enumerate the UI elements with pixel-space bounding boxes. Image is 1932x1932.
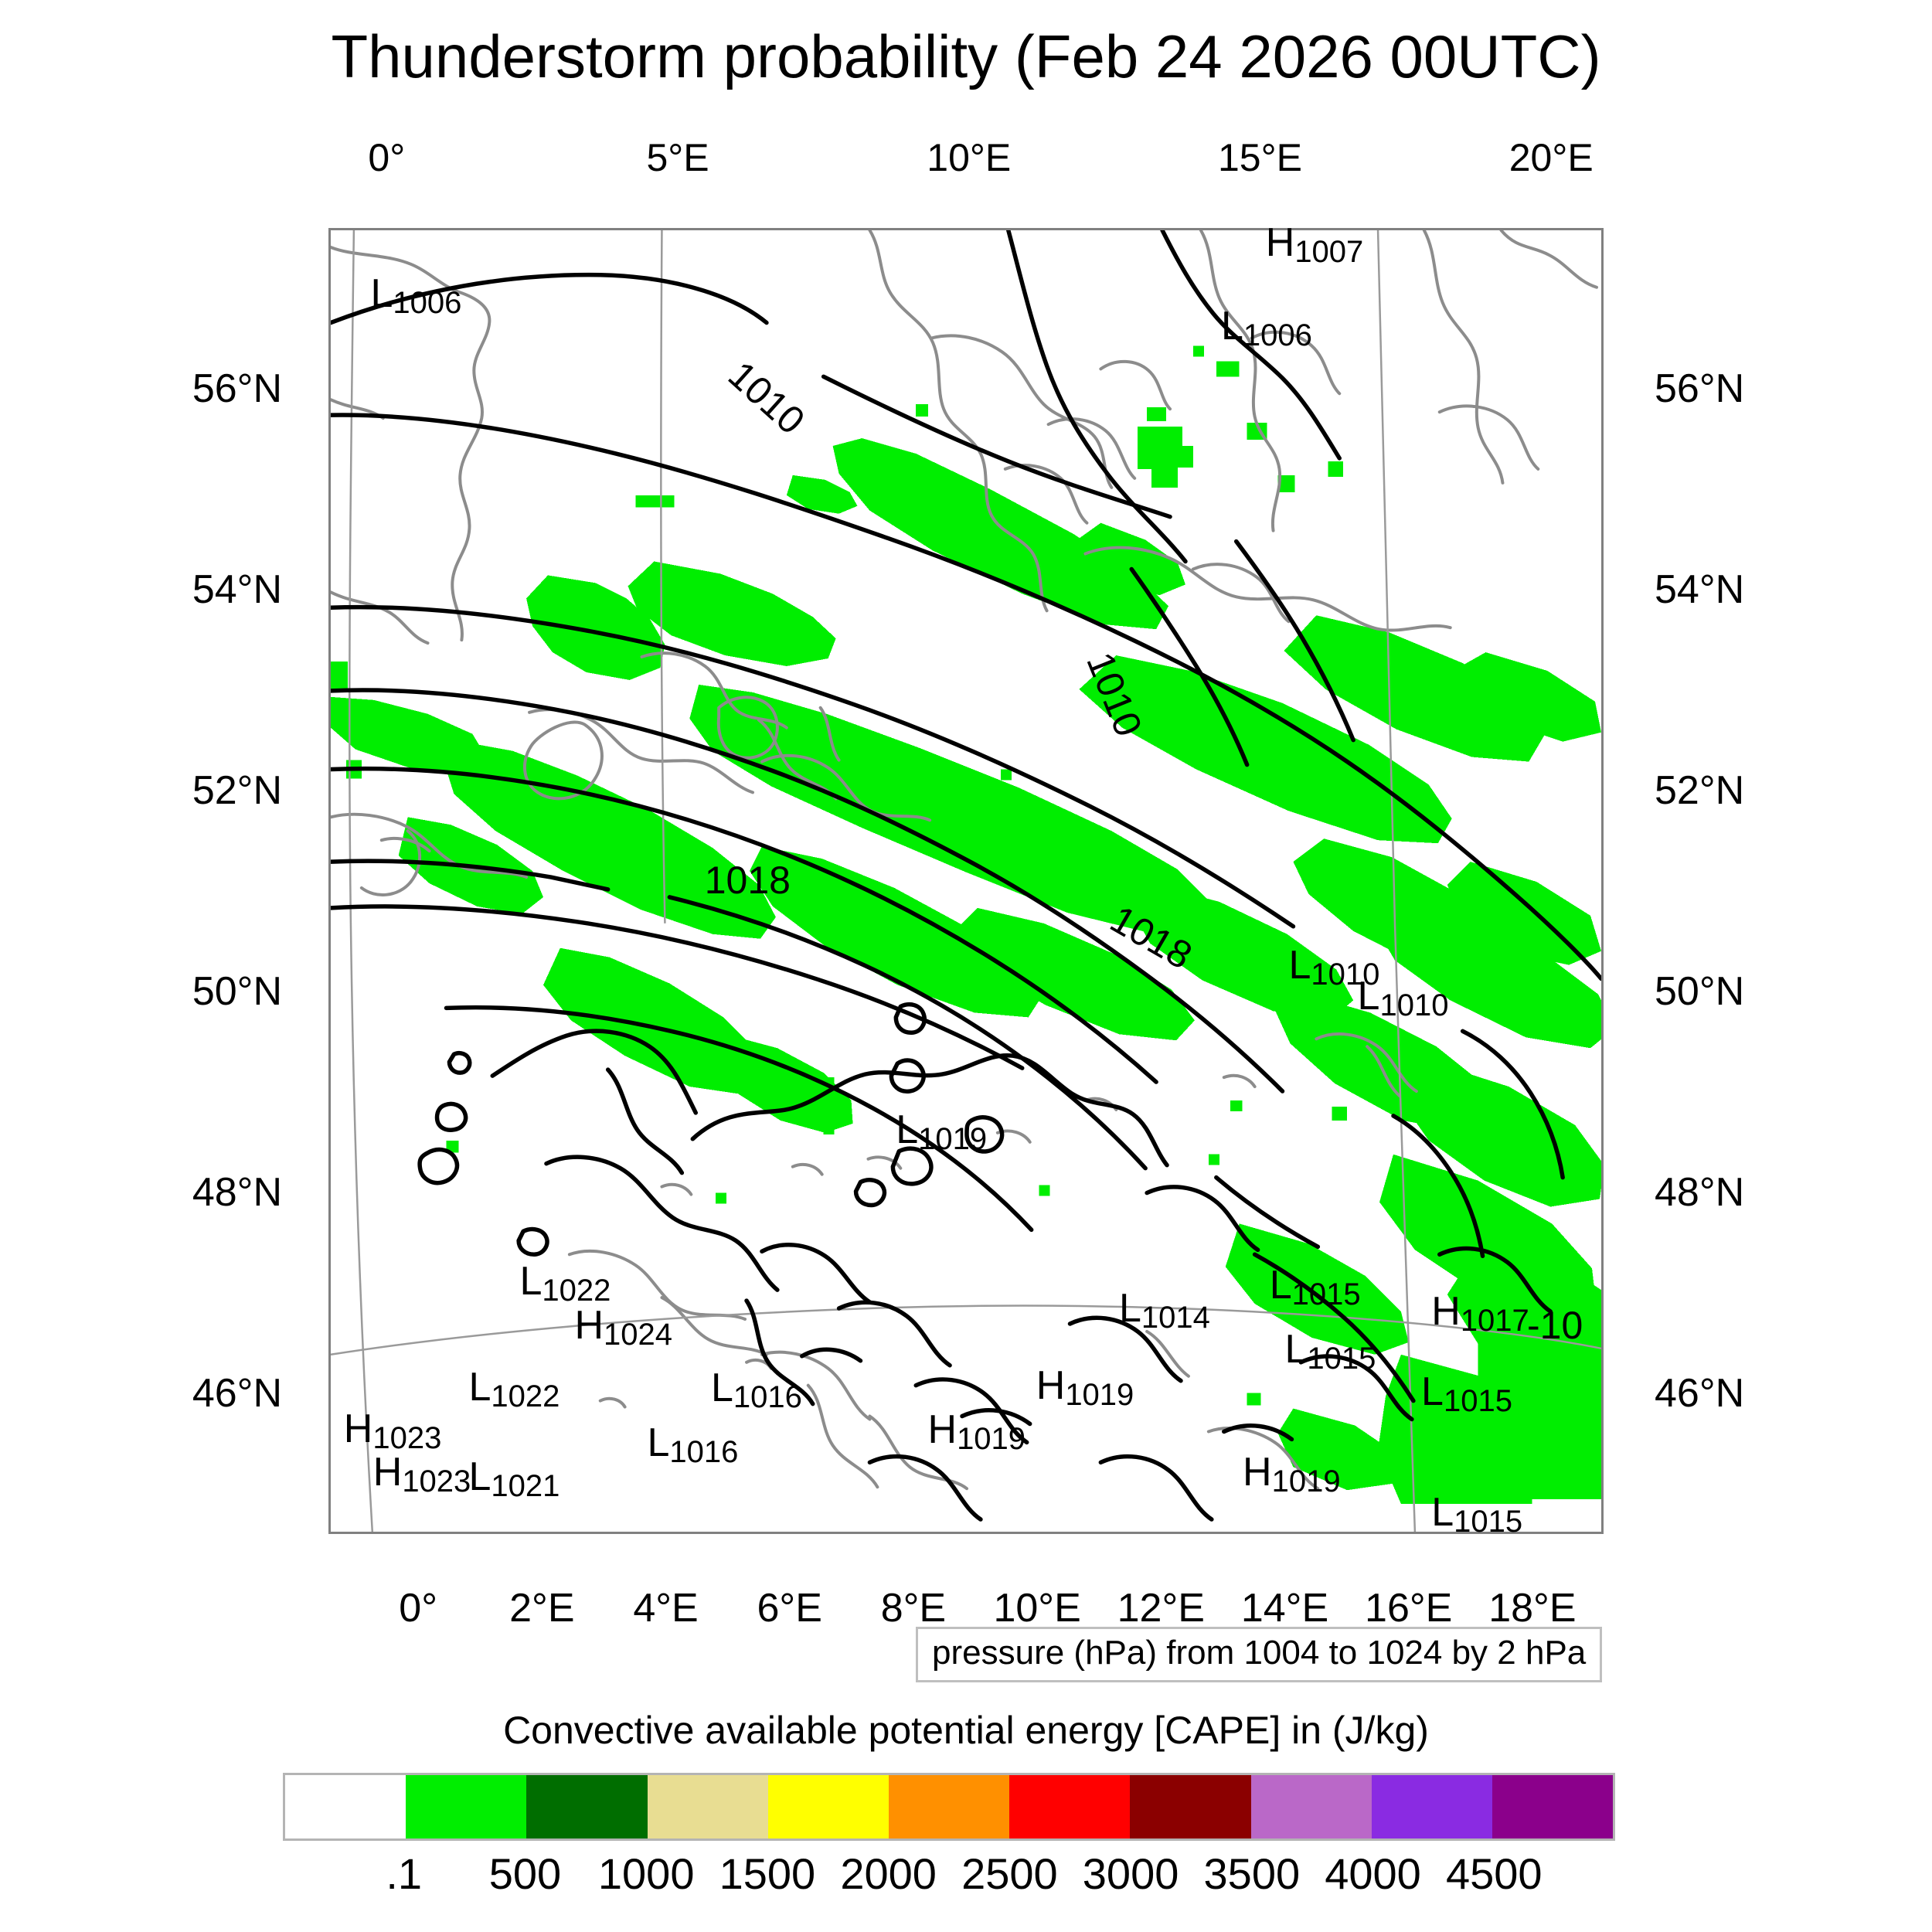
pressure-marker-value: 1022 xyxy=(491,1379,560,1413)
map-plot-area[interactable] xyxy=(328,228,1604,1534)
colorbar-segment[interactable] xyxy=(1130,1775,1250,1838)
high-pressure-marker: H1019 xyxy=(928,1410,1026,1450)
pressure-marker-letter: L xyxy=(1270,1263,1292,1308)
pressure-marker-value: 1007 xyxy=(1294,235,1363,269)
right-axis-tick xyxy=(1601,1396,1604,1397)
high-pressure-marker: H1019 xyxy=(1243,1452,1341,1492)
low-pressure-marker: L1006 xyxy=(1221,306,1312,346)
bottom-axis-label: 16°E xyxy=(1365,1585,1452,1631)
pressure-marker-value: 1022 xyxy=(542,1274,611,1308)
contour-label: 1018 xyxy=(705,858,791,903)
bottom-axis-label: 8°E xyxy=(881,1585,946,1631)
right-axis-tick xyxy=(1601,1195,1604,1196)
pressure-marker-value: 1006 xyxy=(393,286,461,320)
pressure-marker-letter: H xyxy=(574,1303,604,1348)
colorbar-segment[interactable] xyxy=(285,1775,406,1838)
colorbar-tick-label: 3000 xyxy=(1083,1849,1179,1899)
right-axis-tick xyxy=(1601,592,1604,594)
colorbar-tick-labels: .150010001500200025003000350040004500 xyxy=(283,1849,1615,1910)
left-axis-label: 48°N xyxy=(128,1169,282,1216)
colorbar-tick-label: 2000 xyxy=(840,1849,937,1899)
pressure-marker-value: 1021 xyxy=(491,1469,560,1503)
bottom-axis-label: 0° xyxy=(399,1585,437,1631)
page-title: Thunderstorm probability (Feb 24 2026 00… xyxy=(0,22,1932,92)
pressure-marker-letter: L xyxy=(1221,304,1243,349)
pressure-marker-value: 1016 xyxy=(733,1380,802,1414)
top-axis-label: 10°E xyxy=(927,135,1011,180)
pressure-marker-value: 1019 xyxy=(957,1422,1026,1456)
colorbar-tick-label: 500 xyxy=(489,1849,561,1899)
top-axis-tick xyxy=(1553,228,1555,230)
top-axis-tick xyxy=(971,228,973,230)
high-pressure-marker: H1017 xyxy=(1431,1291,1529,1332)
right-axis-label: 56°N xyxy=(1655,366,1744,412)
bottom-axis-label: 10°E xyxy=(993,1585,1080,1631)
pressure-marker-value: 1015 xyxy=(1292,1277,1361,1311)
colorbar-tick-label: 2500 xyxy=(961,1849,1058,1899)
low-pressure-marker: L1022 xyxy=(520,1261,611,1301)
low-pressure-marker: L1022 xyxy=(469,1367,560,1407)
map-canvas xyxy=(331,230,1601,1532)
bottom-axis-tick xyxy=(1039,1532,1041,1534)
pressure-marker-letter: L xyxy=(896,1107,918,1152)
right-axis-label: 54°N xyxy=(1655,566,1744,613)
pressure-marker-letter: L xyxy=(1285,1327,1308,1372)
colorbar-tick-label: 1500 xyxy=(719,1849,816,1899)
pressure-marker-letter: H xyxy=(344,1406,373,1451)
pressure-marker-value: 1015 xyxy=(1307,1342,1376,1376)
left-axis-tick xyxy=(328,1195,331,1196)
bottom-axis-label: 4°E xyxy=(633,1585,698,1631)
low-pressure-marker: L1015 xyxy=(1270,1265,1361,1305)
low-pressure-marker: L1019 xyxy=(896,1110,987,1150)
colorbar-tick-label: 3500 xyxy=(1204,1849,1301,1899)
pressure-marker-letter: L xyxy=(1358,974,1380,1019)
bottom-axis-tick xyxy=(1535,1532,1536,1534)
right-axis-label: 50°N xyxy=(1655,968,1744,1015)
pressure-marker-value: 1014 xyxy=(1141,1301,1210,1335)
low-pressure-marker: L1016 xyxy=(648,1423,739,1463)
pressure-marker-value: 1010 xyxy=(1379,988,1448,1022)
bottom-axis-tick xyxy=(1287,1532,1289,1534)
top-axis-tick xyxy=(680,228,682,230)
pressure-marker-letter: L xyxy=(1421,1369,1444,1414)
high-pressure-marker: H1023 xyxy=(373,1452,471,1492)
high-pressure-marker: H1019 xyxy=(1036,1366,1134,1406)
pressure-marker-value: 1017 xyxy=(1461,1304,1529,1338)
bottom-axis-tick xyxy=(420,1532,422,1534)
pressure-marker-letter: L xyxy=(1431,1490,1454,1535)
pressure-marker-value: 1024 xyxy=(604,1318,672,1352)
pressure-marker-letter: H xyxy=(1243,1450,1272,1495)
low-pressure-marker: L1016 xyxy=(711,1368,802,1408)
top-axis-tick xyxy=(1262,228,1264,230)
pressure-marker-value: 1019 xyxy=(1065,1378,1134,1412)
right-axis-label: 52°N xyxy=(1655,767,1744,814)
left-axis-tick xyxy=(328,793,331,794)
low-pressure-marker: L1015 xyxy=(1421,1372,1512,1412)
colorbar-segment[interactable] xyxy=(406,1775,526,1838)
pressure-legend-box: pressure (hPa) from 1004 to 1024 by 2 hP… xyxy=(916,1627,1602,1682)
pressure-marker-letter: L xyxy=(1288,943,1311,988)
low-pressure-marker: L1015 xyxy=(1431,1492,1522,1532)
pressure-marker-letter: H xyxy=(928,1407,957,1452)
pressure-marker-letter: L xyxy=(469,1454,492,1499)
colorbar-tick-label: 4000 xyxy=(1325,1849,1421,1899)
pressure-marker-value: 1019 xyxy=(1272,1464,1341,1498)
bottom-axis-tick xyxy=(544,1532,546,1534)
bottom-axis-label: 14°E xyxy=(1241,1585,1328,1631)
pressure-marker-value: 1019 xyxy=(918,1122,987,1156)
top-axis-tick xyxy=(389,228,390,230)
bottom-axis-tick xyxy=(916,1532,917,1534)
pressure-marker-letter: L xyxy=(469,1365,492,1410)
pressure-marker-letter: H xyxy=(373,1450,403,1495)
left-axis-label: 50°N xyxy=(128,968,282,1015)
colorbar-tick-label: 1000 xyxy=(598,1849,695,1899)
colorbar-caption: Convective available potential energy [C… xyxy=(0,1708,1932,1753)
left-axis-tick xyxy=(328,391,331,393)
colorbar-segment[interactable] xyxy=(889,1775,1009,1838)
left-axis-tick xyxy=(328,592,331,594)
right-axis-label: 48°N xyxy=(1655,1169,1744,1216)
high-pressure-marker: H1007 xyxy=(1266,223,1364,263)
top-axis-label: 20°E xyxy=(1509,135,1594,180)
colorbar-tick-label: .1 xyxy=(386,1849,422,1899)
bottom-axis-tick xyxy=(1163,1532,1165,1534)
bottom-axis-tick xyxy=(792,1532,794,1534)
low-pressure-marker: L1006 xyxy=(370,274,461,314)
pressure-marker-letter: L xyxy=(711,1366,733,1410)
bottom-axis-label: 18°E xyxy=(1488,1585,1576,1631)
pressure-marker-value: 1016 xyxy=(669,1435,738,1469)
low-pressure-marker: L1015 xyxy=(1285,1329,1376,1369)
pressure-marker-value: 1023 xyxy=(402,1464,471,1498)
pressure-marker-letter: H xyxy=(1431,1289,1461,1334)
left-axis-label: 54°N xyxy=(128,566,282,613)
colorbar-segment[interactable] xyxy=(1251,1775,1372,1838)
right-axis-label: 46°N xyxy=(1655,1370,1744,1417)
bottom-axis-label: 12°E xyxy=(1117,1585,1205,1631)
high-pressure-marker: H1024 xyxy=(574,1305,672,1345)
left-axis-label: 56°N xyxy=(128,366,282,412)
pressure-marker-letter: L xyxy=(520,1259,543,1304)
pressure-marker-letter: L xyxy=(370,271,393,316)
colorbar[interactable] xyxy=(283,1773,1615,1841)
right-axis-tick xyxy=(1601,391,1604,393)
colorbar-segment[interactable] xyxy=(1492,1775,1613,1838)
pressure-marker-letter: L xyxy=(648,1420,670,1465)
bottom-axis-label: 6°E xyxy=(757,1585,822,1631)
colorbar-segment[interactable] xyxy=(526,1775,647,1838)
left-axis-tick xyxy=(328,994,331,995)
right-axis-tick xyxy=(1601,793,1604,794)
left-axis-label: 46°N xyxy=(128,1370,282,1417)
low-pressure-marker: L1014 xyxy=(1119,1288,1210,1328)
pressure-marker-value: 1015 xyxy=(1444,1384,1512,1418)
low-pressure-marker: L1021 xyxy=(469,1457,560,1497)
pressure-marker-letter: H xyxy=(1036,1363,1066,1408)
pressure-marker-value: 1015 xyxy=(1454,1505,1522,1539)
colorbar-segment[interactable] xyxy=(1372,1775,1492,1838)
colorbar-segment[interactable] xyxy=(768,1775,889,1838)
pressure-marker-letter: H xyxy=(1266,220,1295,265)
top-axis-label: 5°E xyxy=(646,135,709,180)
colorbar-tick-label: 4500 xyxy=(1446,1849,1543,1899)
top-axis-label: 15°E xyxy=(1218,135,1302,180)
top-axis-label: 0° xyxy=(368,135,405,180)
high-pressure-marker: H1023 xyxy=(344,1409,442,1449)
colorbar-segment[interactable] xyxy=(648,1775,768,1838)
left-axis-tick xyxy=(328,1396,331,1397)
bottom-axis-tick xyxy=(668,1532,670,1534)
pressure-marker-value: 1006 xyxy=(1243,318,1312,352)
colorbar-segment[interactable] xyxy=(1009,1775,1130,1838)
pressure-marker-letter: L xyxy=(1119,1286,1141,1331)
bottom-axis-label: 2°E xyxy=(509,1585,574,1631)
bottom-axis-tick xyxy=(1411,1532,1413,1534)
low-pressure-marker: L1010 xyxy=(1358,976,1449,1016)
right-axis-tick xyxy=(1601,994,1604,995)
left-axis-label: 52°N xyxy=(128,767,282,814)
contour-label: -10 xyxy=(1527,1303,1583,1348)
